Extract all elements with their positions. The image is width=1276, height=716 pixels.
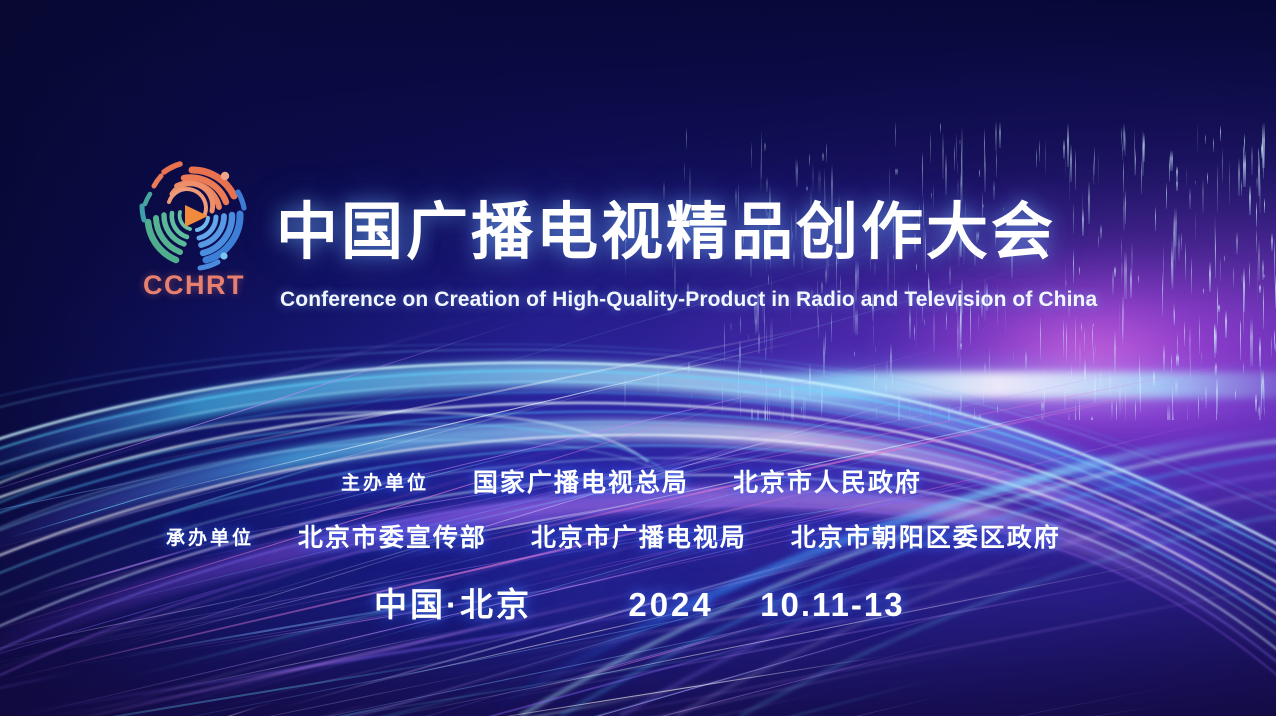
logo-wordmark: CCHRT [128,270,260,301]
organizer-entity-1: 北京市广播电视局 [531,524,747,552]
logo-block: CCHRT [128,158,260,318]
host-label: 主办单位 [341,473,429,494]
event-location-date-row: 中国·北京 2024 10.11-13 [374,578,905,626]
event-year: 2024 [628,586,713,623]
conference-poster: CCHRT 中国广播电视精品创作大会 Conference on Creatio… [0,0,1276,716]
co-organizers-row: 承办单位 北京市委宣传部 北京市广播电视局 北京市朝阳区委区政府 [166,518,1061,554]
host-entity-1: 北京市人民政府 [733,469,922,497]
event-dates: 10.11-13 [760,586,904,623]
cchrt-swirl-logo-icon [128,158,260,276]
host-organizers-row: 主办单位 国家广播电视总局 北京市人民政府 [341,463,922,499]
organizer-entity-2: 北京市朝阳区委区政府 [791,524,1061,552]
organizer-entity-0: 北京市委宣传部 [298,524,487,552]
organizer-label: 承办单位 [166,528,254,549]
page-title: 中国广播电视精品创作大会 [276,196,1056,270]
host-entity-0: 国家广播电视总局 [473,469,689,497]
page-subtitle: Conference on Creation of High-Quality-P… [280,288,1097,312]
event-location: 中国·北京 [374,586,532,623]
